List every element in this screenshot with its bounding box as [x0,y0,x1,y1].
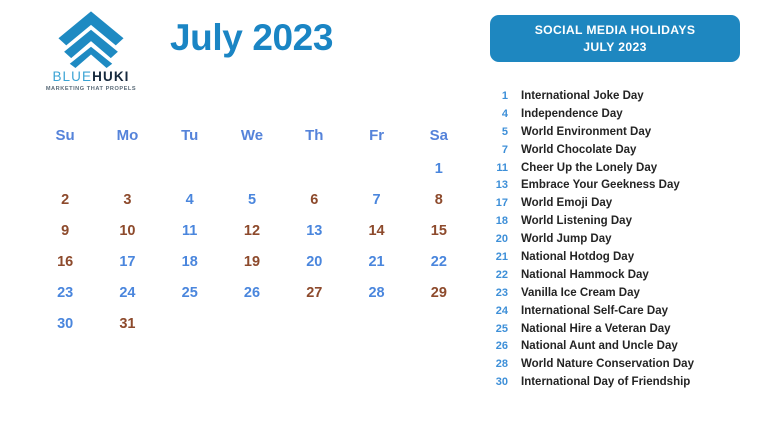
calendar-day-4[interactable]: 4 [159,193,221,208]
weekday-we: We [221,128,283,143]
holiday-date: 23 [478,285,508,303]
calendar-day-15[interactable]: 15 [408,224,470,239]
calendar-day-19[interactable]: 19 [221,255,283,270]
holiday-date: 4 [478,106,508,124]
holiday-date: 18 [478,213,508,231]
calendar-week-row: 3031 [34,309,470,340]
page-title: July 2023 [170,19,333,56]
calendar-body: 1234567891011121314151617181920212223242… [34,154,470,340]
calendar-day-5[interactable]: 5 [221,193,283,208]
calendar-day-14[interactable]: 14 [345,224,407,239]
holiday-name: World Emoji Day [521,195,612,213]
calendar-day-2[interactable]: 2 [34,193,96,208]
holiday-date: 28 [478,356,508,374]
weekday-su: Su [34,128,96,143]
holiday-date: 30 [478,374,508,392]
calendar-day-8[interactable]: 8 [408,193,470,208]
holiday-name: Cheer Up the Lonely Day [521,160,657,178]
calendar-day-31[interactable]: 31 [96,317,158,332]
holiday-date: 13 [478,177,508,195]
holiday-date: 7 [478,142,508,160]
holiday-date: 24 [478,303,508,321]
holiday-name: National Aunt and Uncle Day [521,338,678,356]
logo-tagline: MARKETING THAT PROPELS [26,86,156,92]
holiday-list-item[interactable]: 30International Day of Friendship [478,374,768,392]
calendar-weekday-header-row: Su Mo Tu We Th Fr Sa [34,120,470,150]
holiday-date: 5 [478,124,508,142]
holiday-list-item[interactable]: 17World Emoji Day [478,195,768,213]
calendar-day-29[interactable]: 29 [408,286,470,301]
holidays-header-line2: JULY 2023 [583,39,646,56]
holiday-date: 20 [478,231,508,249]
calendar-day-7[interactable]: 7 [345,193,407,208]
holidays-header-line1: SOCIAL MEDIA HOLIDAYS [535,22,696,39]
calendar-day-24[interactable]: 24 [96,286,158,301]
calendar-day-26[interactable]: 26 [221,286,283,301]
holiday-date: 22 [478,267,508,285]
holiday-name: Embrace Your Geekness Day [521,177,680,195]
calendar-day-21[interactable]: 21 [345,255,407,270]
logo-word-blue: BLUE [52,69,92,84]
calendar-day-18[interactable]: 18 [159,255,221,270]
holiday-date: 25 [478,321,508,339]
holiday-list-item[interactable]: 26National Aunt and Uncle Day [478,338,768,356]
holiday-list-item[interactable]: 20World Jump Day [478,231,768,249]
holiday-name: Vanilla Ice Cream Day [521,285,640,303]
holiday-list-item[interactable]: 13Embrace Your Geekness Day [478,177,768,195]
weekday-th: Th [283,128,345,143]
calendar-day-9[interactable]: 9 [34,224,96,239]
holiday-list-item[interactable]: 24International Self-Care Day [478,303,768,321]
holiday-name: National Hammock Day [521,267,649,285]
weekday-tu: Tu [159,128,221,143]
holiday-date: 26 [478,338,508,356]
calendar-day-3[interactable]: 3 [96,193,158,208]
calendar-week-row: 1 [34,154,470,185]
calendar-day-20[interactable]: 20 [283,255,345,270]
holidays-panel: SOCIAL MEDIA HOLIDAYS JULY 2023 1Interna… [478,0,768,432]
weekday-mo: Mo [96,128,158,143]
holiday-list-item[interactable]: 4Independence Day [478,106,768,124]
calendar-day-1[interactable]: 1 [408,162,470,177]
holiday-list-item[interactable]: 21National Hotdog Day [478,249,768,267]
calendar-day-16[interactable]: 16 [34,255,96,270]
calendar-week-row: 2345678 [34,185,470,216]
calendar-day-22[interactable]: 22 [408,255,470,270]
calendar-day-27[interactable]: 27 [283,286,345,301]
weekday-sa: Sa [408,128,470,143]
weekday-fr: Fr [345,128,407,143]
holiday-list-item[interactable]: 7World Chocolate Day [478,142,768,160]
logo-wordmark: BLUEHUKI [26,70,156,84]
calendar-day-23[interactable]: 23 [34,286,96,301]
holiday-name: World Jump Day [521,231,612,249]
holiday-list-item[interactable]: 22National Hammock Day [478,267,768,285]
calendar-day-12[interactable]: 12 [221,224,283,239]
calendar-day-6[interactable]: 6 [283,193,345,208]
calendar-day-11[interactable]: 11 [159,224,221,239]
holiday-date: 17 [478,195,508,213]
holiday-name: World Nature Conservation Day [521,356,694,374]
holiday-name: National Hotdog Day [521,249,634,267]
calendar-day-25[interactable]: 25 [159,286,221,301]
calendar-week-row: 16171819202122 [34,247,470,278]
holiday-name: World Chocolate Day [521,142,636,160]
calendar-week-row: 23242526272829 [34,278,470,309]
holiday-date: 1 [478,88,508,106]
holiday-name: International Joke Day [521,88,644,106]
holiday-name: National Hire a Veteran Day [521,321,671,339]
holiday-list-item[interactable]: 1International Joke Day [478,88,768,106]
holiday-name: World Environment Day [521,124,651,142]
calendar-day-28[interactable]: 28 [345,286,407,301]
holiday-list-item[interactable]: 5World Environment Day [478,124,768,142]
holiday-date: 21 [478,249,508,267]
calendar-day-17[interactable]: 17 [96,255,158,270]
calendar-day-10[interactable]: 10 [96,224,158,239]
holiday-name: International Self-Care Day [521,303,668,321]
calendar-day-30[interactable]: 30 [34,317,96,332]
holiday-list-item[interactable]: 18World Listening Day [478,213,768,231]
holiday-list-item[interactable]: 11Cheer Up the Lonely Day [478,160,768,178]
holiday-name: Independence Day [521,106,623,124]
triple-chevron-up-icon [55,10,127,68]
holiday-list: 1International Joke Day4Independence Day… [478,88,768,392]
holiday-list-item[interactable]: 23Vanilla Ice Cream Day [478,285,768,303]
holiday-name: World Listening Day [521,213,632,231]
holiday-date: 11 [478,160,508,178]
logo-word-dark: HUKI [92,69,129,84]
holidays-panel-header: SOCIAL MEDIA HOLIDAYS JULY 2023 [490,15,740,62]
holiday-name: International Day of Friendship [521,374,690,392]
calendar-day-13[interactable]: 13 [283,224,345,239]
calendar-grid: Su Mo Tu We Th Fr Sa 1234567891011121314… [34,120,470,340]
calendar-week-row: 9101112131415 [34,216,470,247]
holiday-list-item[interactable]: 25National Hire a Veteran Day [478,321,768,339]
holiday-list-item[interactable]: 28World Nature Conservation Day [478,356,768,374]
brand-logo: BLUEHUKI MARKETING THAT PROPELS [26,10,156,92]
calendar-page: BLUEHUKI MARKETING THAT PROPELS July 202… [0,0,768,432]
